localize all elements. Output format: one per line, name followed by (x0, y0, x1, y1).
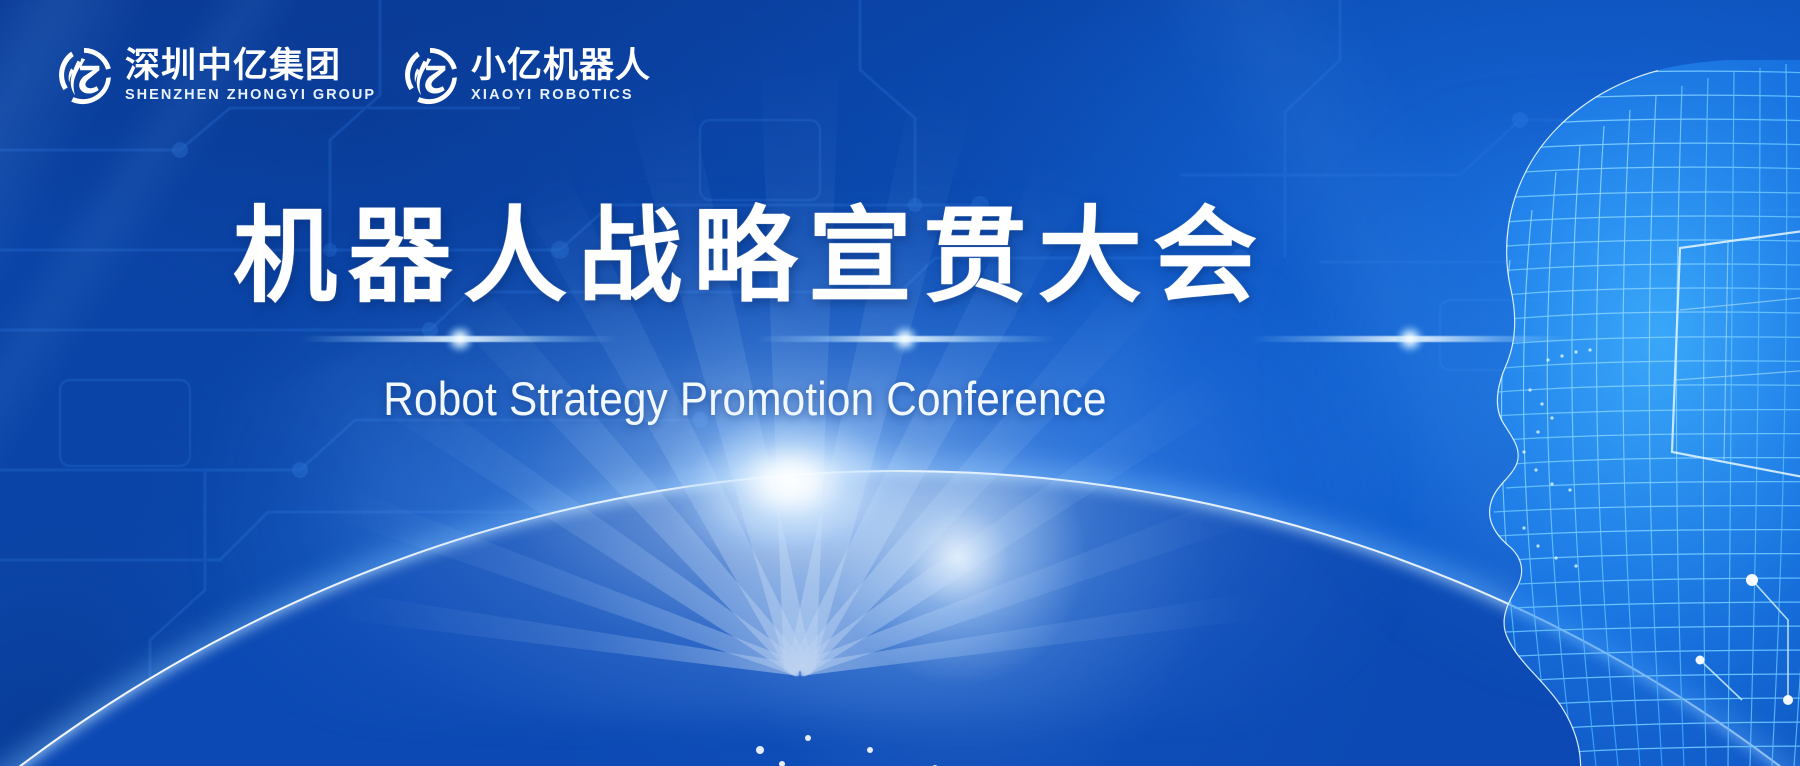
conference-banner: 深圳中亿集团 SHENZHEN ZHONGYI GROUP 小亿机器人 XIAO… (0, 0, 1800, 766)
logo-english-name: XIAOYI ROBOTICS (471, 87, 651, 104)
logo-shenzhen-zhongyi-group[interactable]: 深圳中亿集团 SHENZHEN ZHONGYI GROUP (52, 44, 376, 108)
logo-xiaoyi-robotics[interactable]: 小亿机器人 XIAOYI ROBOTICS (398, 44, 651, 108)
logo-group: 深圳中亿集团 SHENZHEN ZHONGYI GROUP 小亿机器人 XIAO… (52, 44, 651, 108)
zhongyi-circular-z-logo-icon (52, 44, 116, 108)
logo-english-name: SHENZHEN ZHONGYI GROUP (125, 87, 376, 104)
logo-chinese-name: 深圳中亿集团 (125, 47, 376, 85)
xiaoyi-circular-z-logo-icon (398, 44, 462, 108)
background-vignette (0, 0, 1800, 766)
logo-chinese-name: 小亿机器人 (471, 47, 651, 85)
